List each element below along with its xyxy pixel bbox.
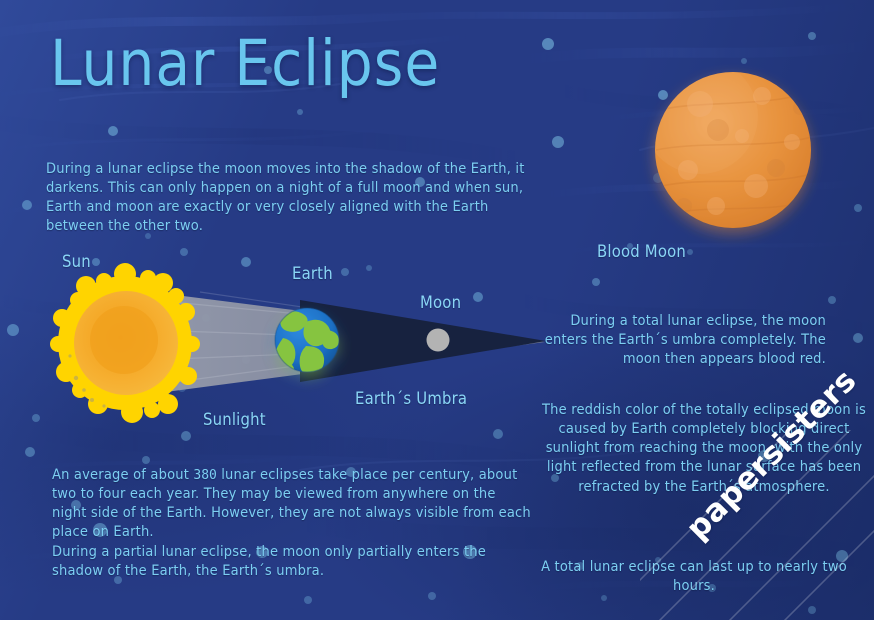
label-earth: Earth	[292, 263, 333, 284]
page-title: Lunar Eclipse	[50, 32, 440, 95]
intro-paragraph: During a lunar eclipse the moon moves in…	[46, 160, 526, 237]
moon-graphic	[427, 329, 450, 352]
paragraph-reddish-color: The reddish color of the totally eclipse…	[540, 401, 868, 497]
label-sunlight: Sunlight	[203, 409, 266, 430]
paragraph-duration: A total lunar eclipse can last up to nea…	[520, 558, 868, 596]
sun-graphic	[50, 263, 200, 423]
label-sun: Sun	[62, 251, 91, 272]
label-moon: Moon	[420, 292, 461, 313]
average-count: 380	[193, 468, 216, 483]
paragraph-total-eclipse: During a total lunar eclipse, the moon e…	[526, 312, 826, 369]
average-prefix: An average of about	[52, 467, 193, 483]
blood-moon-graphic	[642, 58, 818, 228]
lunar-eclipse-infographic: Lunar Eclipse During a lunar eclipse the…	[0, 0, 874, 620]
paragraph-average-eclipses: An average of about 380 lunar eclipses t…	[52, 466, 534, 543]
paragraph-partial-eclipse: During a partial lunar eclipse, the moon…	[52, 543, 522, 581]
label-blood-moon: Blood Moon	[597, 241, 686, 262]
label-earths-umbra: Earth´s Umbra	[355, 388, 467, 409]
